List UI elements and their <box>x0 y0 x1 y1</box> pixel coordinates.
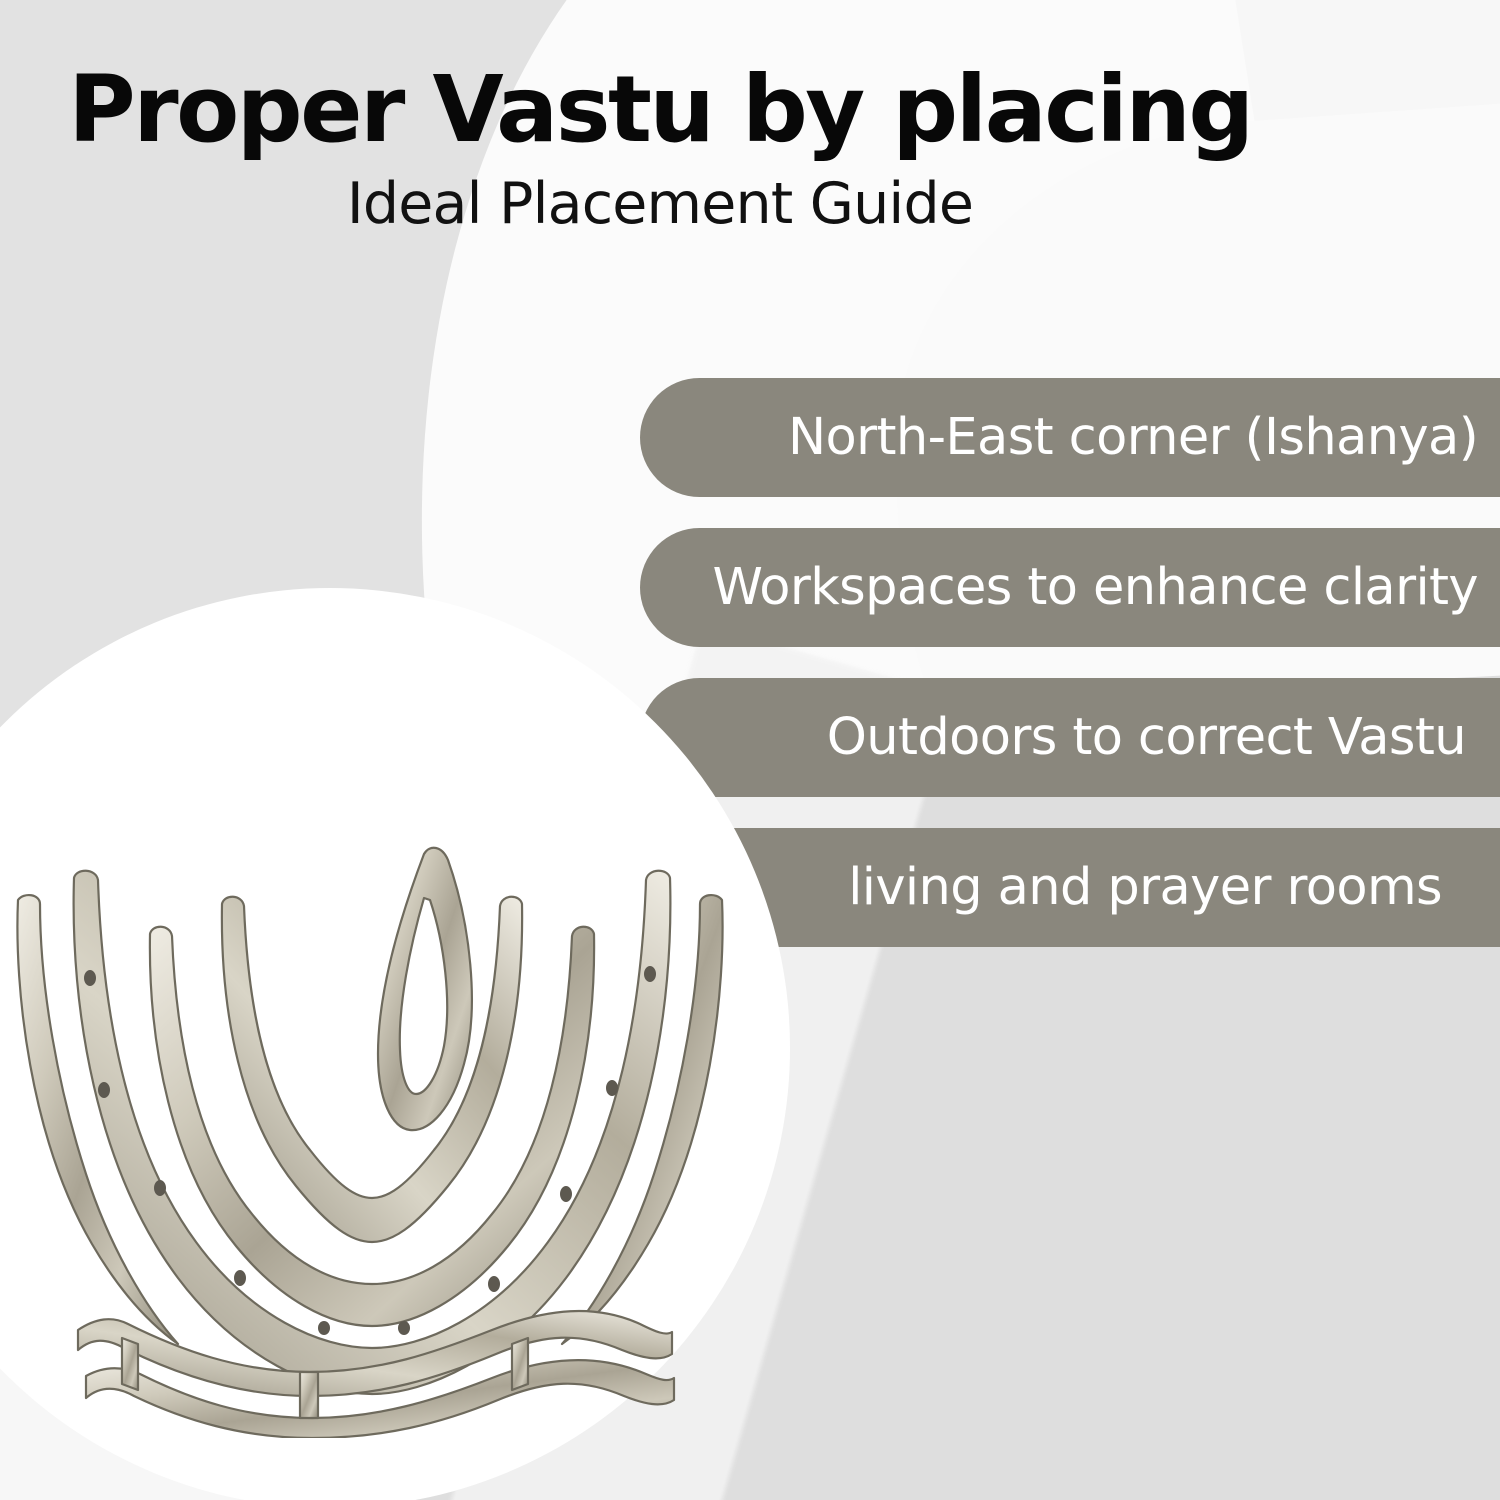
list-item[interactable]: North-East corner (Ishanya) <box>640 378 1500 497</box>
bar-connector-left <box>122 1338 138 1390</box>
flame-motif <box>378 848 472 1130</box>
promo-graphic-canvas: Proper Vastu by placing Ideal Placement … <box>0 0 1500 1500</box>
bar-connector-right <box>512 1338 528 1390</box>
list-item-label: North-East corner (Ishanya) <box>640 412 1478 463</box>
list-item-label: Outdoors to correct Vastu <box>640 712 1478 763</box>
list-item-label: Workspaces to enhance clarity <box>640 562 1478 613</box>
header: Proper Vastu by placing Ideal Placement … <box>0 62 1320 235</box>
vastu-metal-symbol-icon <box>0 838 740 1438</box>
placement-list: North-East corner (Ishanya) Workspaces t… <box>640 378 1500 978</box>
inner-crescent <box>222 897 522 1242</box>
list-item[interactable]: Outdoors to correct Vastu <box>640 678 1500 797</box>
product-image <box>0 838 740 1438</box>
page-subtitle: Ideal Placement Guide <box>0 173 1320 236</box>
bar-connector-center <box>300 1372 318 1418</box>
list-item[interactable]: Workspaces to enhance clarity <box>640 528 1500 647</box>
page-title: Proper Vastu by placing <box>0 62 1320 159</box>
